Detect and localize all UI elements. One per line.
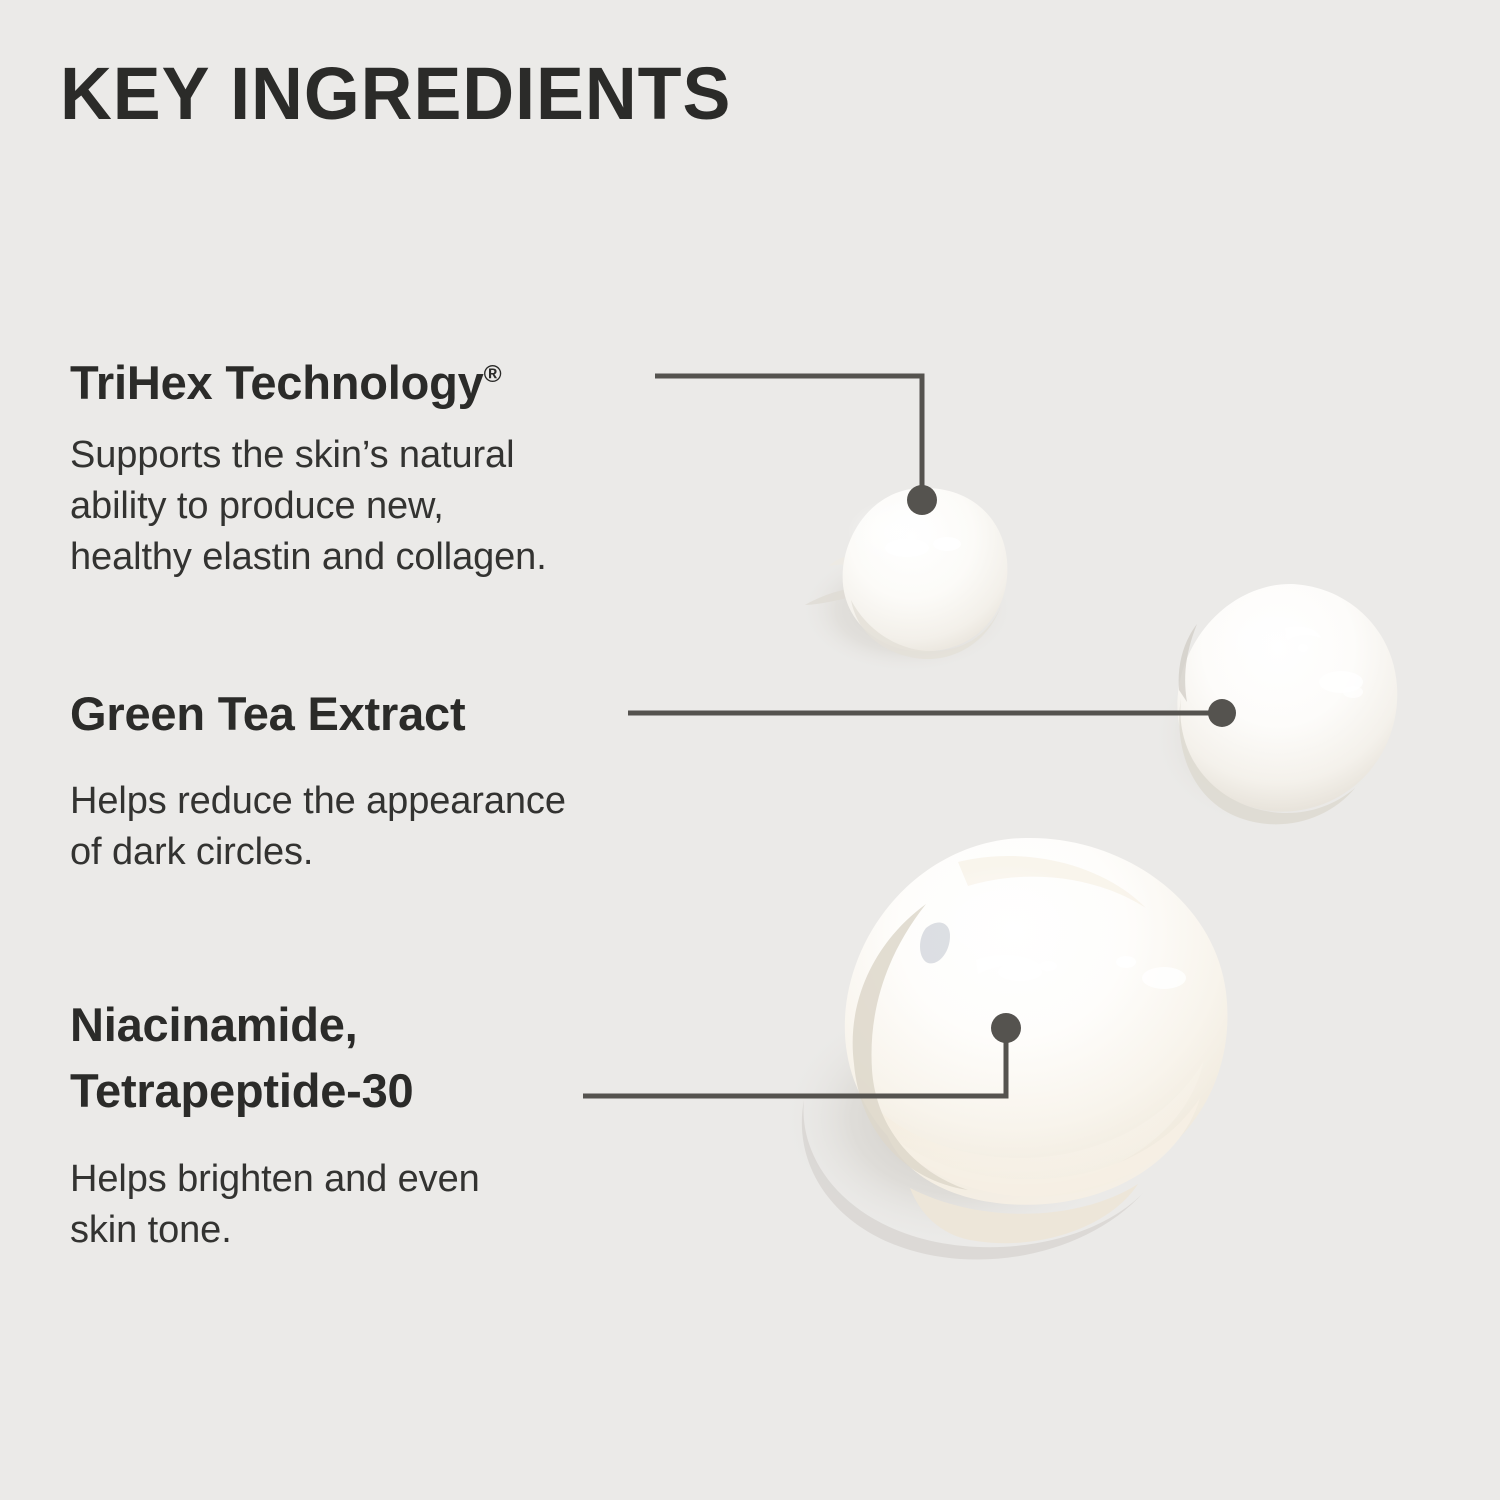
ingredient-body-green-tea: Helps reduce the appearance of dark circ…	[70, 776, 566, 878]
cream-droplet-small	[795, 460, 1055, 680]
ingredient-heading-trihex: TriHex Technology®	[70, 342, 547, 416]
cream-droplet-large	[790, 832, 1240, 1262]
ingredient-block-trihex: TriHex Technology® Supports the skin’s n…	[70, 342, 547, 583]
ingredient-body-niacinamide: Helps brighten and even skin tone.	[70, 1154, 480, 1256]
page-title: KEY INGREDIENTS	[60, 57, 731, 131]
ingredient-body-trihex: Supports the skin’s natural ability to p…	[70, 430, 547, 583]
key-ingredients-panel: KEY INGREDIENTS	[0, 0, 1500, 1500]
cream-droplet-medium	[1145, 570, 1425, 850]
ingredient-heading-niacinamide: Niacinamide, Tetrapeptide-30	[70, 992, 480, 1124]
registered-trademark-icon: ®	[484, 361, 502, 388]
ingredient-block-green-tea: Green Tea Extract Helps reduce the appea…	[70, 681, 566, 878]
ingredient-heading-green-tea: Green Tea Extract	[70, 681, 566, 747]
ingredient-heading-trihex-text: TriHex Technology	[70, 356, 484, 409]
ingredient-block-niacinamide: Niacinamide, Tetrapeptide-30 Helps brigh…	[70, 992, 480, 1256]
